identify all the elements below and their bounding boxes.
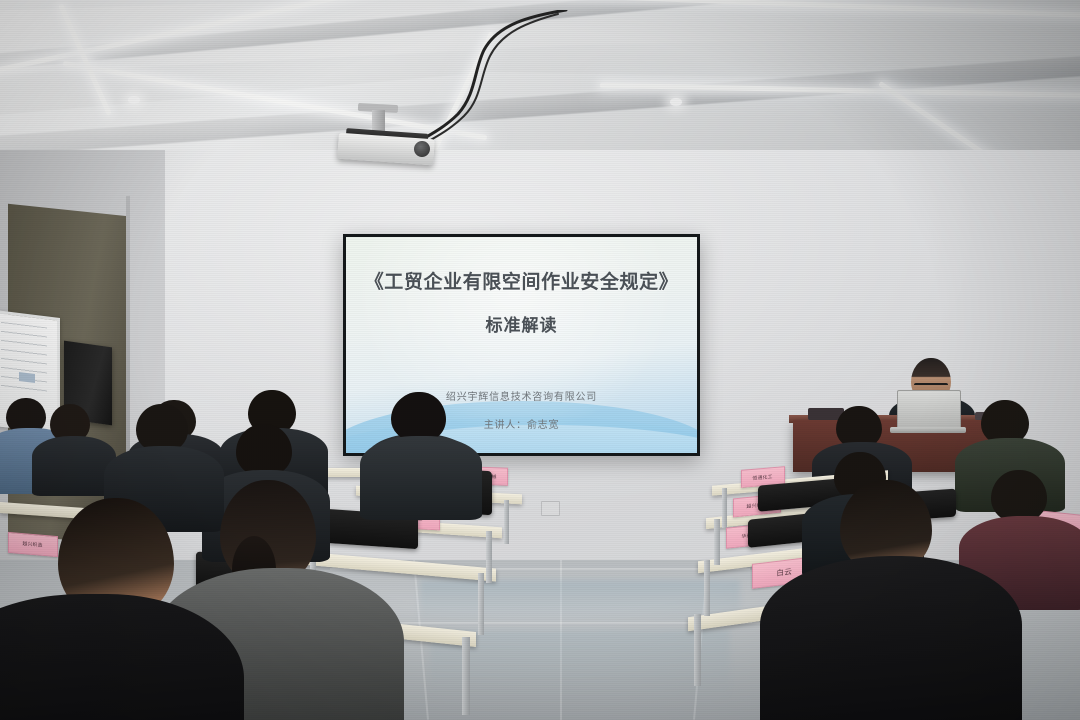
head: [136, 404, 188, 452]
desk-leg: [714, 519, 720, 565]
head: [991, 470, 1047, 522]
power-outlet: [541, 501, 560, 516]
slide-organization: 绍兴宇辉信息技术咨询有限公司: [446, 388, 597, 403]
desk-leg: [478, 573, 484, 635]
projector-cable: [380, 10, 570, 150]
namecard-text: 恒通化工: [753, 473, 773, 481]
notice-board-lines: [1, 322, 47, 398]
desk-leg: [694, 614, 701, 686]
namecard-text: 白云: [776, 566, 792, 578]
slide-subtitle: 标准解读: [486, 311, 558, 336]
projected-slide: 《工贸企业有限空间作业安全规定》 标准解读 绍兴宇辉信息技术咨询有限公司 主讲人…: [346, 237, 697, 453]
desk-leg: [462, 637, 470, 715]
torso: [760, 556, 1022, 720]
laptop: [897, 390, 961, 430]
desk-leg: [504, 500, 509, 544]
notice-board-tag: [19, 372, 35, 383]
desk-leg: [704, 560, 710, 616]
slide-presenter: 主讲人：俞志宽: [484, 416, 560, 431]
conference-room-photo: 《工贸企业有限空间作业安全规定》 标准解读 绍兴宇辉信息技术咨询有限公司 主讲人…: [0, 0, 1080, 720]
namecard-text: 越兴织造: [23, 540, 43, 548]
desk-leg: [722, 488, 727, 528]
slide-title: 《工贸企业有限空间作业安全规定》: [365, 267, 679, 294]
head: [236, 424, 292, 476]
namecard: 越兴织造: [8, 532, 58, 557]
projection-screen: 《工贸企业有限空间作业安全规定》 标准解读 绍兴宇辉信息技术咨询有限公司 主讲人…: [343, 234, 700, 456]
slide-content: 《工贸企业有限空间作业安全规定》 标准解读 绍兴宇辉信息技术咨询有限公司 主讲人…: [346, 237, 697, 453]
desk-leg: [486, 531, 492, 583]
laptop-base: [890, 427, 966, 433]
